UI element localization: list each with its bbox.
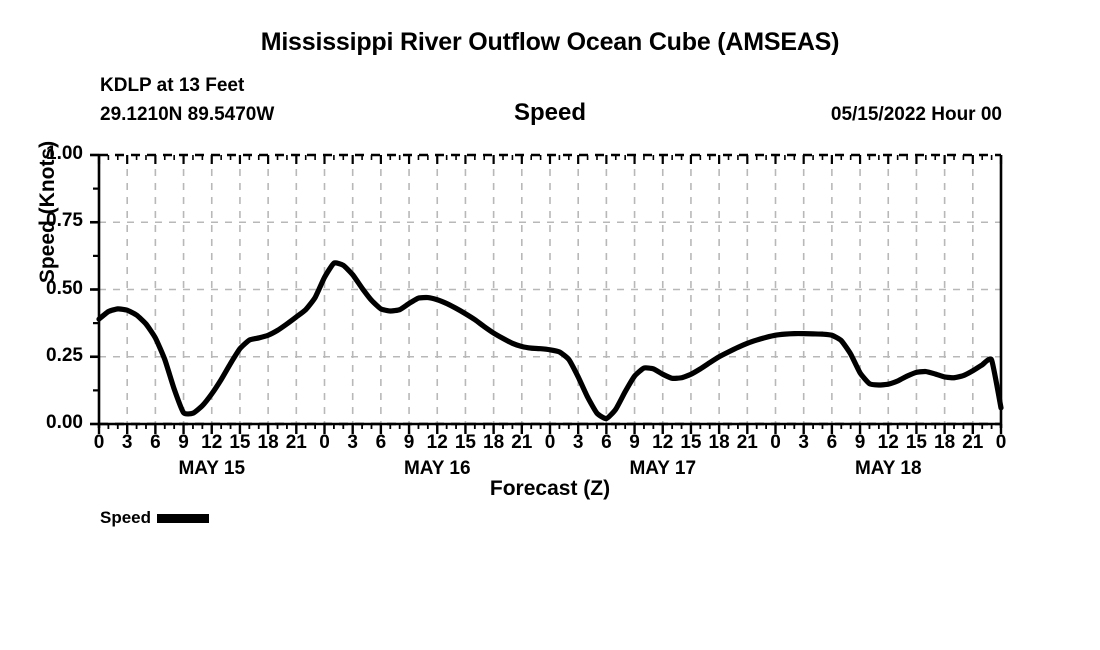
chart-plot-area — [0, 0, 1100, 650]
chart-legend: Speed — [100, 508, 209, 528]
day-label: MAY 17 — [583, 458, 743, 480]
speed-line-chart — [0, 0, 1100, 650]
legend-label: Speed — [100, 508, 151, 528]
y-tick-label: 1.00 — [13, 143, 83, 165]
y-tick-label: 0.75 — [13, 210, 83, 232]
day-label: MAY 15 — [132, 458, 292, 480]
y-tick-label: 0.50 — [13, 278, 83, 300]
day-label: MAY 18 — [808, 458, 968, 480]
legend-line-swatch — [157, 514, 209, 523]
y-tick-label: 0.00 — [13, 412, 83, 434]
x-tick-label: 0 — [981, 432, 1021, 454]
day-label: MAY 16 — [357, 458, 517, 480]
y-tick-label: 0.25 — [13, 345, 83, 367]
